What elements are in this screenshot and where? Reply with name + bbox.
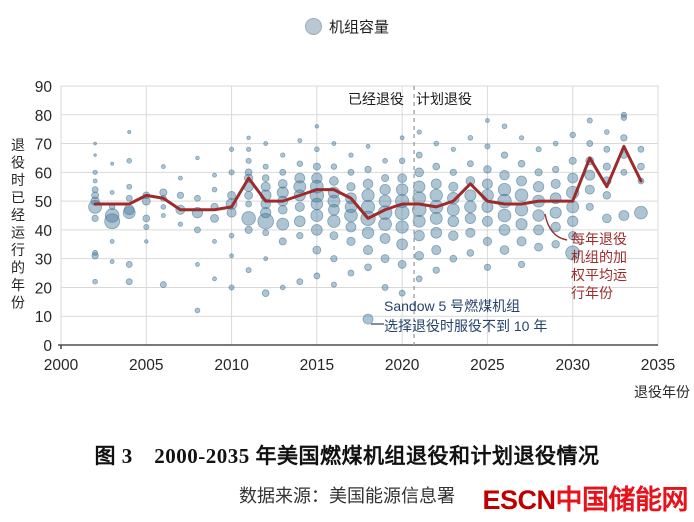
watermark-escn: ESCN [482, 485, 555, 515]
y-tick-label: 90 [35, 79, 53, 96]
svg-text:运: 运 [11, 225, 25, 241]
x-tick-label: 2020 [385, 357, 420, 374]
y-tick-label: 10 [35, 309, 53, 326]
svg-text:行: 行 [11, 242, 25, 258]
x-tick-label: 2010 [214, 357, 249, 374]
y-tick-label: 50 [35, 194, 53, 211]
svg-text:年: 年 [11, 277, 25, 293]
x-tick-label: 2025 [470, 357, 504, 374]
y-tick-label: 40 [35, 223, 53, 240]
y-tick-label: 30 [35, 252, 53, 269]
scatter-chart: 0102030405060708090 20002005201020152020… [0, 0, 694, 440]
avg-annotation-line4: 行年份 [571, 285, 613, 301]
y-tick-label: 0 [43, 338, 52, 355]
label-planned-retired: 计划退役 [416, 91, 472, 107]
watermark-cn: 中国储能网 [556, 485, 689, 515]
site-watermark: ESCN中国储能网 [482, 478, 688, 517]
figure-root: 机组容量 0102030405060708090 200020052010201… [0, 0, 694, 522]
x-tick-label: 2005 [129, 357, 163, 374]
y-tick-label: 20 [35, 280, 53, 297]
figure-caption: 图 3 2000-2035 年美国燃煤机组退役和计划退役情况 [0, 440, 694, 470]
avg-annotation-line2: 机组的加 [571, 249, 627, 265]
sandow-annotation-line2: 选择退役时服役不到 10 年 [384, 318, 547, 334]
svg-text:经: 经 [11, 207, 25, 223]
svg-text:的: 的 [11, 260, 25, 276]
axis-layer [58, 345, 658, 349]
svg-text:时: 时 [11, 172, 25, 188]
x-tick-label: 2000 [44, 357, 79, 374]
label-already-retired: 已经退役 [348, 91, 404, 107]
svg-text:役: 役 [11, 155, 25, 171]
y-tick-label: 80 [35, 108, 53, 125]
avg-annotation-line3: 权平均运 [571, 267, 627, 283]
svg-text:退: 退 [11, 137, 25, 153]
y-axis-ticks: 0102030405060708090 [35, 79, 53, 355]
y-tick-label: 60 [35, 165, 53, 182]
svg-text:份: 份 [11, 295, 25, 311]
x-tick-label: 2035 [641, 357, 675, 374]
avg-annotation-line1: 每年退役 [571, 231, 627, 247]
x-tick-label: 2030 [555, 357, 590, 374]
x-tick-label: 2015 [300, 357, 334, 374]
sandow-annotation-line1: Sandow 5 号燃煤机组 [384, 298, 520, 314]
x-axis-title: 退役年份 [634, 384, 690, 400]
grid-layer [61, 86, 658, 345]
svg-text:已: 已 [11, 190, 25, 206]
y-axis-title: 退役时已经运行的年份 [11, 137, 25, 311]
x-axis-ticks: 20002005201020152020202520302035 [44, 357, 675, 374]
y-tick-label: 70 [35, 137, 53, 154]
